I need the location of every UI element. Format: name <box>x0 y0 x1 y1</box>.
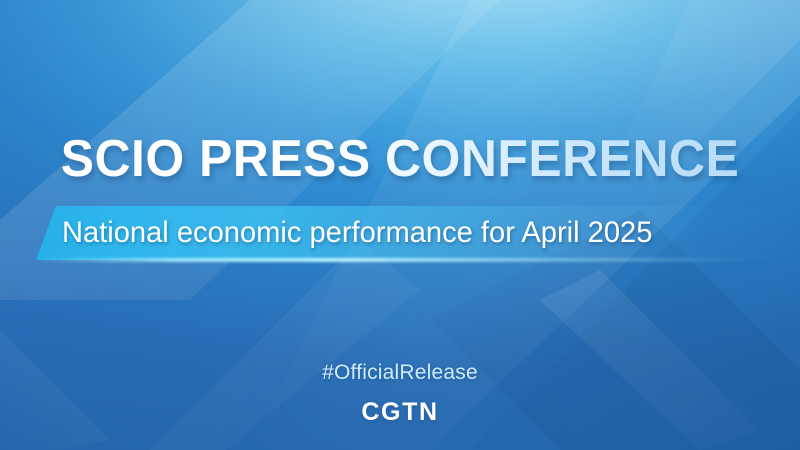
press-conference-slide: SCIO PRESS CONFERENCE National economic … <box>0 0 800 450</box>
hashtag-label: #OfficialRelease <box>0 361 800 385</box>
subtitle-banner: National economic performance for April … <box>0 206 800 260</box>
subtitle-text: National economic performance for April … <box>62 206 652 260</box>
brand-logo-cgtn: CGTN <box>0 398 800 427</box>
page-title: SCIO PRESS CONFERENCE <box>16 128 784 190</box>
